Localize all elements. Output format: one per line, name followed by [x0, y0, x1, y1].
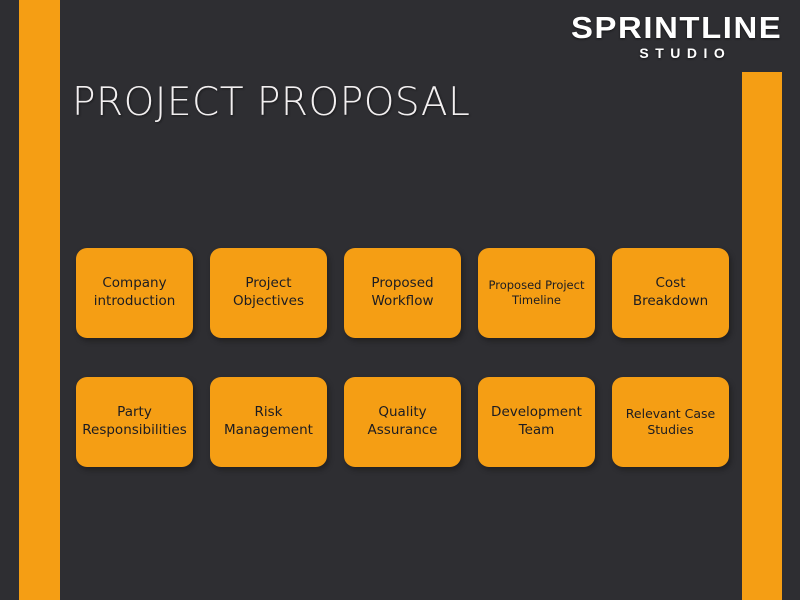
agenda-card-label: Party Responsibilities	[82, 404, 187, 440]
agenda-card[interactable]: Proposed Workflow	[344, 248, 461, 338]
brand-logo: SPRINTLINE STUDIO	[583, 12, 782, 60]
agenda-card-label: Relevant Case Studies	[618, 406, 723, 439]
agenda-card-grid: Company introductionProject ObjectivesPr…	[76, 248, 734, 467]
agenda-card[interactable]: Relevant Case Studies	[612, 377, 729, 467]
agenda-card-label: Quality Assurance	[350, 404, 455, 440]
agenda-card-label: Cost Breakdown	[618, 275, 723, 311]
agenda-card[interactable]: Project Objectives	[210, 248, 327, 338]
agenda-card[interactable]: Party Responsibilities	[76, 377, 193, 467]
agenda-card[interactable]: Proposed Project Timeline	[478, 248, 595, 338]
presentation-slide: SPRINTLINE STUDIO PROJECT PROPOSAL Compa…	[0, 0, 800, 600]
logo-wordmark: SPRINTLINE	[571, 12, 782, 43]
agenda-card[interactable]: Company introduction	[76, 248, 193, 338]
agenda-card[interactable]: Cost Breakdown	[612, 248, 729, 338]
agenda-card[interactable]: Quality Assurance	[344, 377, 461, 467]
agenda-card-label: Risk Management	[216, 404, 321, 440]
agenda-card-label: Proposed Project Timeline	[484, 278, 589, 308]
agenda-card[interactable]: Risk Management	[210, 377, 327, 467]
logo-subtext: STUDIO	[583, 46, 782, 60]
left-accent-bar	[19, 0, 60, 600]
agenda-card-label: Company introduction	[82, 275, 187, 311]
agenda-card-label: Development Team	[484, 404, 589, 440]
right-accent-bar	[742, 72, 782, 600]
agenda-card[interactable]: Development Team	[478, 377, 595, 467]
agenda-card-label: Project Objectives	[216, 275, 321, 311]
agenda-card-label: Proposed Workflow	[350, 275, 455, 311]
page-title: PROJECT PROPOSAL	[72, 80, 470, 125]
